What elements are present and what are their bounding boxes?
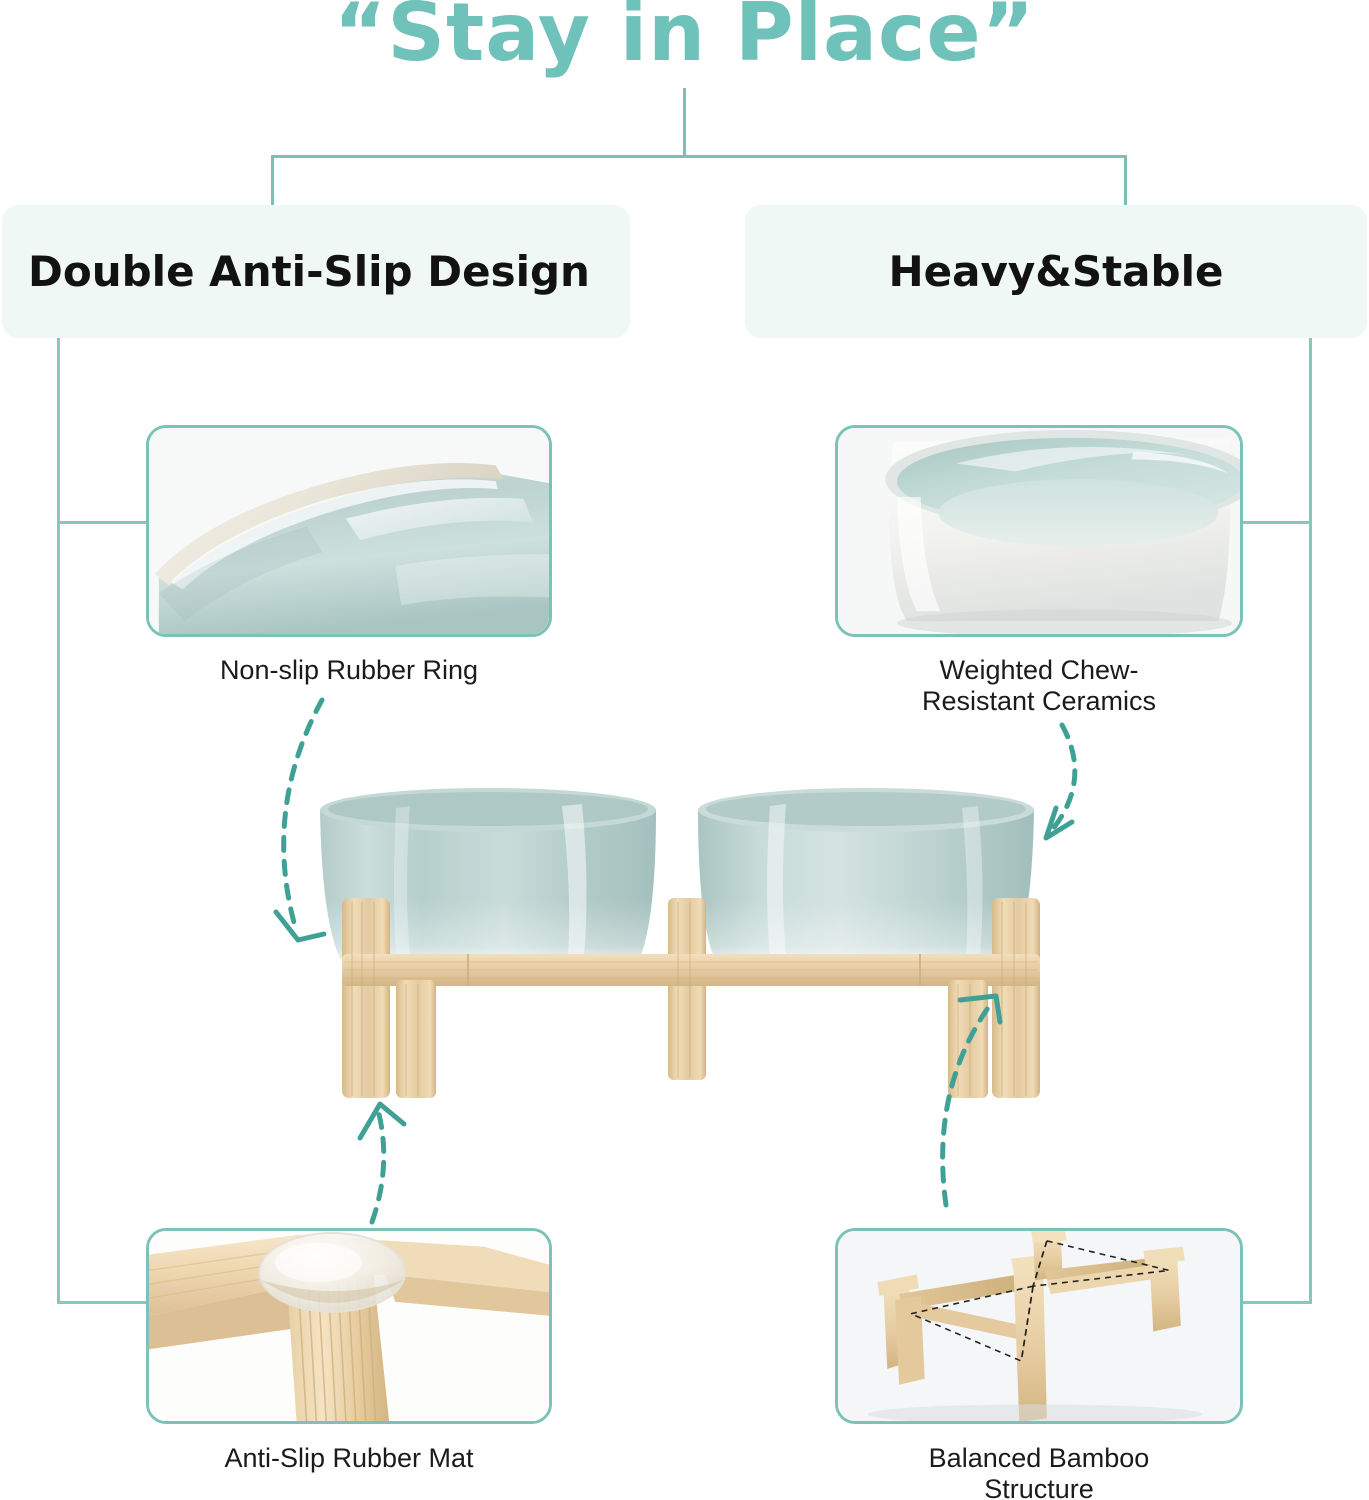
infographic-page: “Stay in Place” Double Anti-Slip Design …: [0, 0, 1369, 1500]
pointer-non-slip-rubber-ring: [284, 700, 322, 930]
pointer-arrows-layer: [0, 0, 1369, 1500]
pointer-balanced-bamboo-structure: [943, 1005, 990, 1205]
arrowhead-down-right: [276, 912, 324, 940]
pointer-anti-slip-rubber-mat: [372, 1110, 384, 1222]
